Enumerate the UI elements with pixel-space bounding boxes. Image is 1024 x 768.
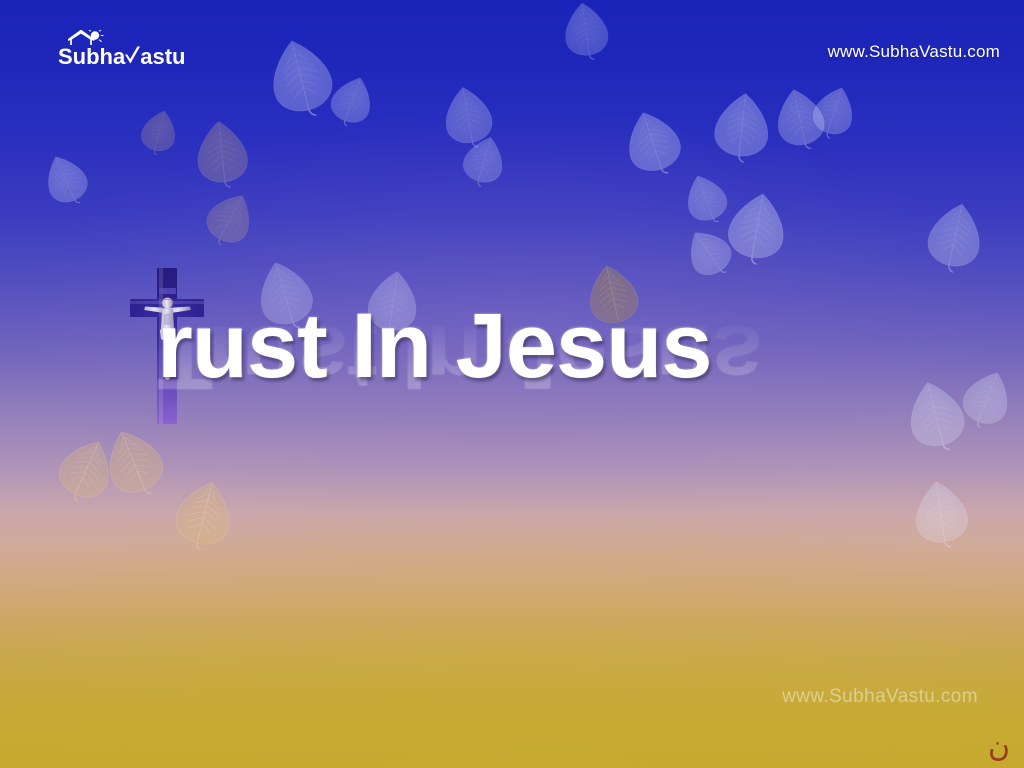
brand-logo-text-part1: Subha bbox=[58, 46, 125, 68]
wallpaper-canvas: Subha astu www.SubhaVastu.com bbox=[0, 0, 1024, 768]
brand-logo-text-part2: astu bbox=[140, 46, 185, 68]
brand-logo-text: Subha astu bbox=[58, 44, 185, 68]
checkmark-v-icon bbox=[124, 46, 141, 66]
site-url-header[interactable]: www.SubhaVastu.com bbox=[828, 42, 1000, 62]
headline-text: rust In Jesus bbox=[157, 295, 712, 397]
page-title: rust In Jesus bbox=[157, 300, 712, 392]
arabic-noon-glyph: ن bbox=[988, 732, 1010, 762]
site-url-watermark: www.SubhaVastu.com bbox=[782, 686, 978, 708]
headline-block: Trust In Jesus rust In Jesus bbox=[0, 300, 1024, 490]
brand-logo[interactable]: Subha astu bbox=[58, 30, 185, 68]
